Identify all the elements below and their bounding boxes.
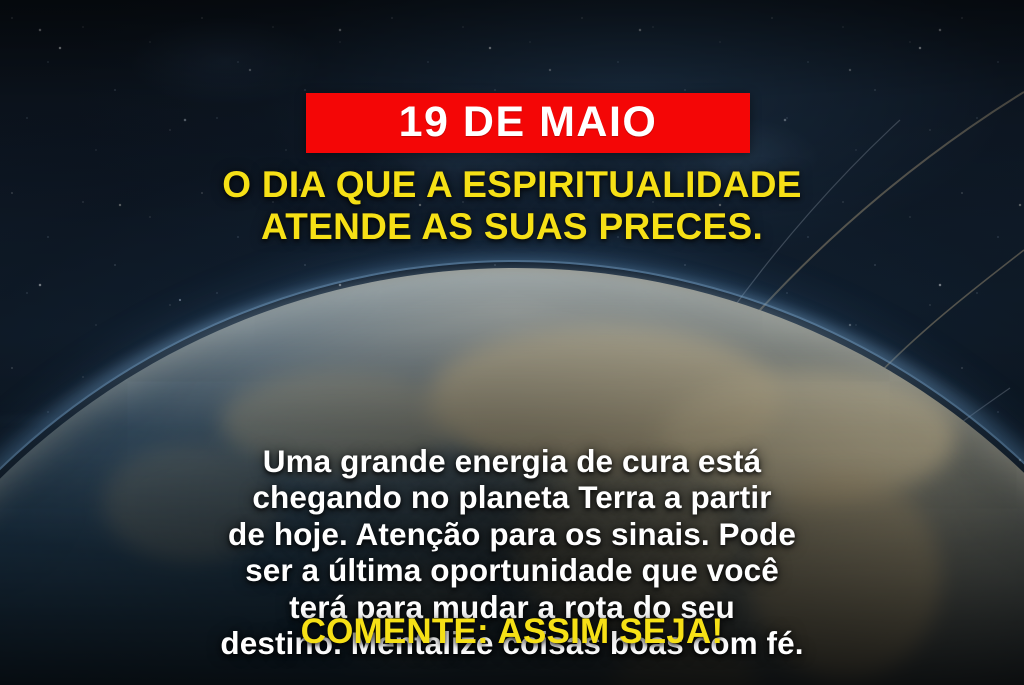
body-copy-line-2: chegando no planeta Terra a partir: [50, 479, 974, 515]
social-media-poster: 19 DE MAIO O DIA QUE A ESPIRITUALIDADE A…: [0, 0, 1024, 685]
headline-line-2: ATENDE AS SUAS PRECES.: [40, 206, 984, 248]
headline-line-1: O DIA QUE A ESPIRITUALIDADE: [40, 164, 984, 206]
call-to-action: COMENTE: ASSIM SEJA!: [0, 612, 1024, 652]
body-copy-line-3: de hoje. Atenção para os sinais. Pode: [50, 516, 974, 552]
poster-content: 19 DE MAIO O DIA QUE A ESPIRITUALIDADE A…: [0, 0, 1024, 685]
date-banner-text: 19 DE MAIO: [399, 101, 658, 144]
headline: O DIA QUE A ESPIRITUALIDADE ATENDE AS SU…: [0, 164, 1024, 248]
date-banner: 19 DE MAIO: [306, 93, 750, 153]
body-copy-line-1: Uma grande energia de cura está: [50, 443, 974, 479]
body-copy-line-4: ser a última oportunidade que você: [50, 552, 974, 588]
call-to-action-text: COMENTE: ASSIM SEJA!: [301, 612, 724, 651]
